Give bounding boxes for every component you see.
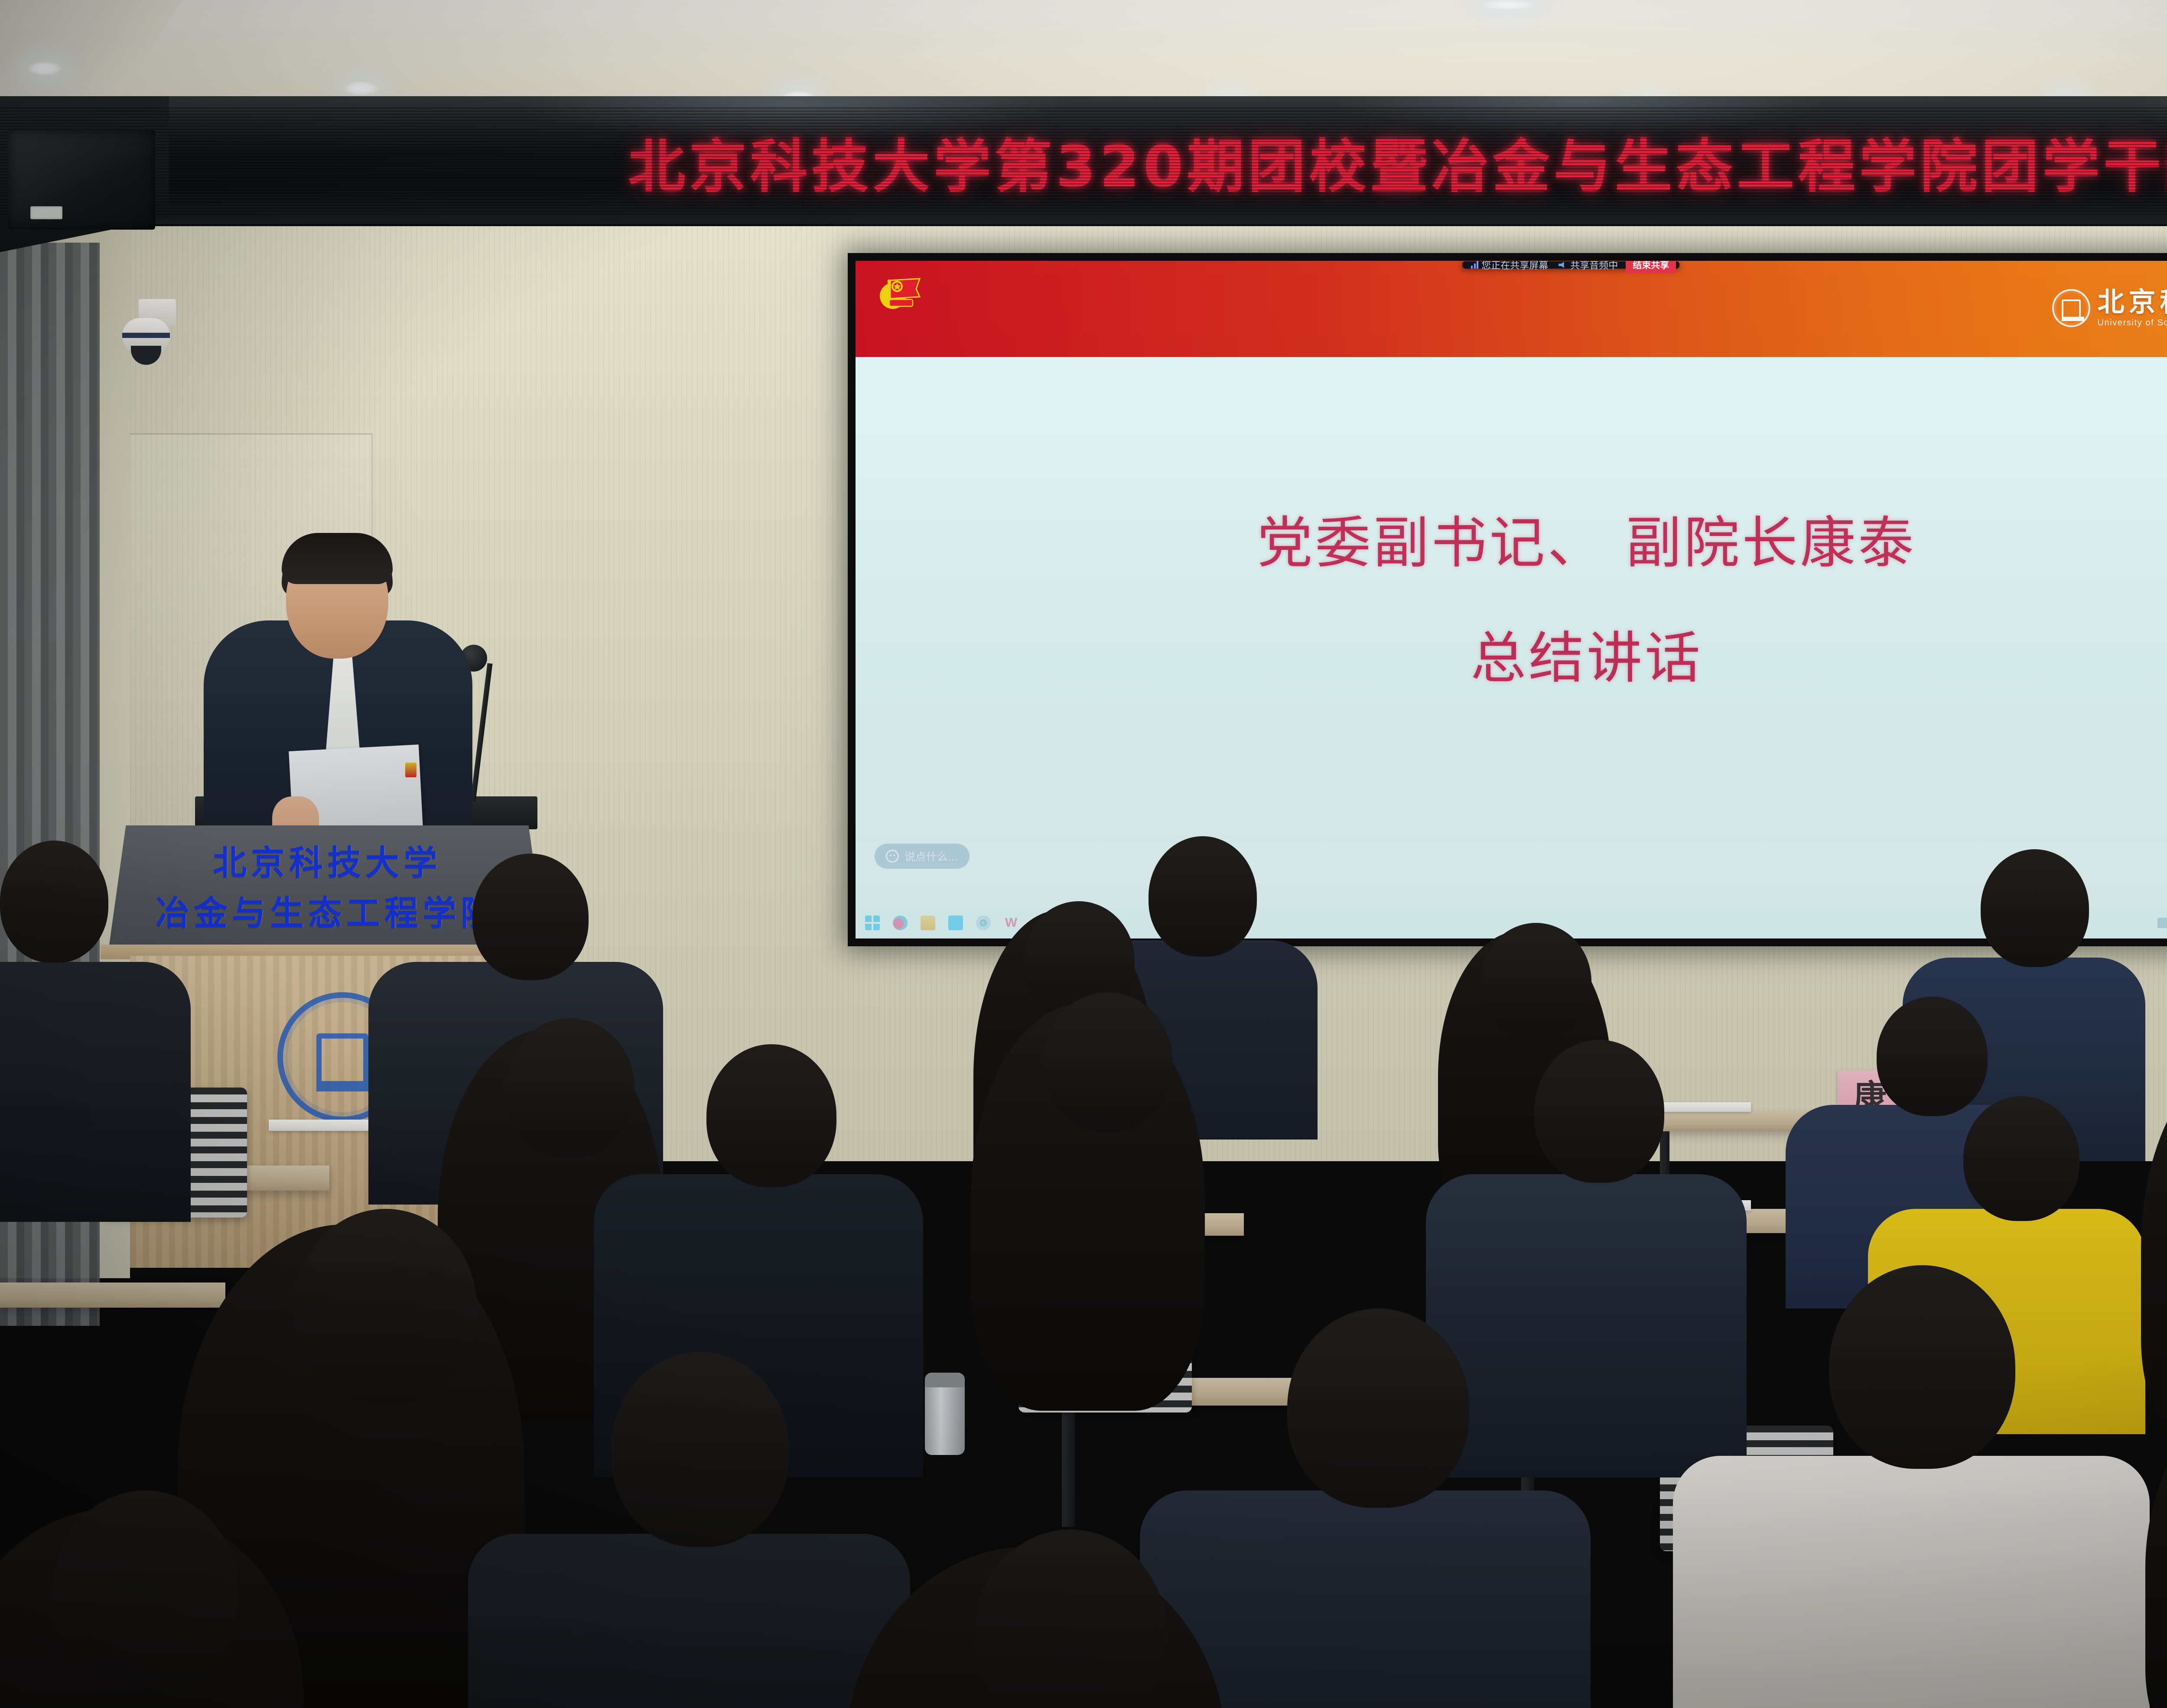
- head: [1534, 1040, 1664, 1183]
- ceiling-soffit: [0, 0, 182, 108]
- thermos-cup: [925, 1373, 965, 1455]
- ceiling-downlight: [26, 61, 63, 76]
- head: [0, 841, 108, 963]
- head: [1829, 1265, 2015, 1469]
- desk-leg: [1062, 1406, 1075, 1527]
- head: [1287, 1309, 1469, 1508]
- ceiling: [0, 0, 2167, 108]
- wall-loudspeaker: [8, 130, 155, 230]
- meeting-chat-input[interactable]: 说点什么...: [875, 844, 970, 869]
- torso: [1426, 1174, 1747, 1477]
- emoji-icon: [886, 850, 899, 863]
- file-explorer-icon[interactable]: [921, 916, 935, 930]
- communist-youth-league-emblem: [875, 274, 923, 310]
- ceiling-smoke-detector: [1482, 0, 1534, 10]
- head: [472, 854, 589, 980]
- head: [1963, 1096, 2079, 1221]
- share-audio-status: 共享音频中: [1553, 261, 1623, 272]
- chat-placeholder-label: 说点什么...: [905, 848, 958, 864]
- share-screen-status-label: 您正在共享屏幕: [1481, 261, 1548, 272]
- ustb-name-en: University of Science and Technology Bei…: [2097, 318, 2167, 327]
- head: [1149, 836, 1257, 957]
- ustb-seal-icon: [2052, 289, 2090, 327]
- led-banner-text: 北京科技大学第320期团校暨冶金与生态工程学院团学干部培训班: [0, 107, 2167, 216]
- ime-icon[interactable]: [2157, 918, 2167, 928]
- tencent-meeting-icon[interactable]: [948, 916, 963, 930]
- lectern-sign-line-1: 北京科技大学: [108, 836, 546, 884]
- projection-screen: 您正在共享屏幕 共享音频中 结束共享 北京科技大学 University of …: [848, 253, 2167, 946]
- wps-writer-icon[interactable]: W: [1004, 916, 1018, 930]
- head: [706, 1044, 836, 1187]
- signal-bars-icon: [1471, 261, 1478, 269]
- head: [1981, 849, 2089, 967]
- speaker-icon: [1559, 262, 1567, 268]
- head: [1877, 997, 1988, 1116]
- share-screen-status: 您正在共享屏幕: [1466, 261, 1553, 272]
- surveillance-camera: [114, 299, 179, 368]
- torso: [1673, 1456, 2150, 1708]
- start-icon[interactable]: [865, 916, 880, 930]
- desk: [0, 1283, 225, 1308]
- slide-title-line-2: 总结讲话: [856, 613, 2167, 693]
- edge-icon[interactable]: [893, 916, 908, 930]
- stop-share-button[interactable]: 结束共享: [1626, 261, 1676, 273]
- speaker-hair-front: [282, 533, 393, 584]
- share-audio-status-label: 共享音频中: [1570, 261, 1618, 272]
- torso: [468, 1534, 910, 1708]
- lecture-hall-photo: 北京科技大学第320期团校暨冶金与生态工程学院团学干部培训班: [0, 0, 2167, 1708]
- head: [505, 1018, 634, 1157]
- meeting-share-toolbar[interactable]: 您正在共享屏幕 共享音频中 结束共享: [1462, 261, 1679, 269]
- slide-header-band: 您正在共享屏幕 共享音频中 结束共享 北京科技大学 University of …: [856, 261, 2167, 357]
- projected-desktop: 您正在共享屏幕 共享音频中 结束共享 北京科技大学 University of …: [856, 261, 2167, 938]
- speaker-lapel-badge: [405, 763, 416, 777]
- head: [52, 1490, 238, 1694]
- ustb-logo: 北京科技大学 University of Science and Technol…: [2052, 270, 2167, 345]
- ceiling-downlight: [342, 81, 380, 96]
- head: [295, 1209, 477, 1404]
- torso: [0, 962, 191, 1222]
- slide-title-line-1: 党委副书记、 副院长康泰: [856, 498, 2167, 578]
- head: [1480, 923, 1591, 1041]
- chrome-icon[interactable]: [976, 916, 991, 930]
- slide-body: 党委副书记、 副院长康泰 总结讲话 说点什么... W W: [856, 357, 2167, 938]
- head: [1043, 992, 1173, 1132]
- head: [611, 1352, 789, 1547]
- ustb-name-cn: 北京科技大学: [2097, 289, 2167, 315]
- paper-on-desk: [269, 1120, 381, 1131]
